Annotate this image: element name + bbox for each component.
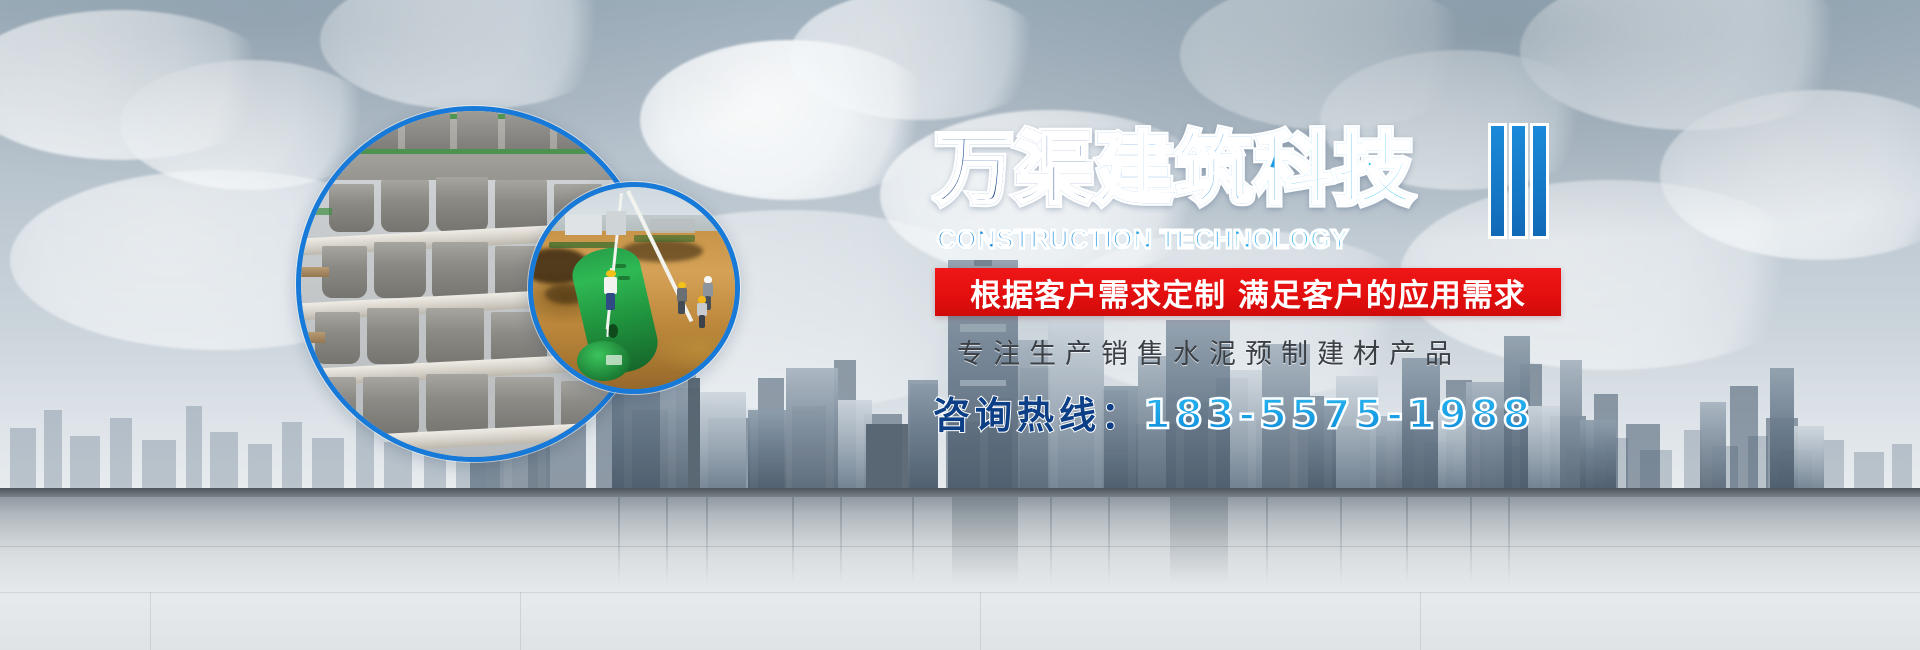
- brand-title: 万渠建筑科技: [935, 124, 1415, 216]
- brand-title-row: 万渠建筑科技 万渠建筑科技: [935, 124, 1635, 222]
- hotline-number[interactable]: 183-5575-1988: [1143, 392, 1534, 438]
- decorative-bars-icon: [1491, 126, 1546, 236]
- hotline-label: 咨询热线：: [933, 385, 1143, 439]
- hotline-row: 咨询热线： 183-5575-1988: [933, 385, 1635, 439]
- ground-plane: [0, 488, 1920, 650]
- tagline-text: 专注生产销售水泥预制建材产品: [957, 332, 1635, 371]
- banner-text-block: 万渠建筑科技 万渠建筑科技 CONSTRUCTION TECHNOLOGY 根据…: [935, 124, 1635, 439]
- ground-reflection-streaks: [0, 488, 1920, 650]
- brand-title-part1: 万渠: [935, 125, 1095, 215]
- septic-tank-installation-photo: [528, 182, 740, 394]
- red-slogan-text: 根据客户需求定制 满足客户的应用需求: [970, 270, 1526, 315]
- promotional-banner: 万渠建筑科技 万渠建筑科技 CONSTRUCTION TECHNOLOGY 根据…: [0, 0, 1920, 650]
- brand-title-part2: 建筑科技: [1095, 125, 1415, 215]
- red-slogan-banner: 根据客户需求定制 满足客户的应用需求: [935, 268, 1561, 316]
